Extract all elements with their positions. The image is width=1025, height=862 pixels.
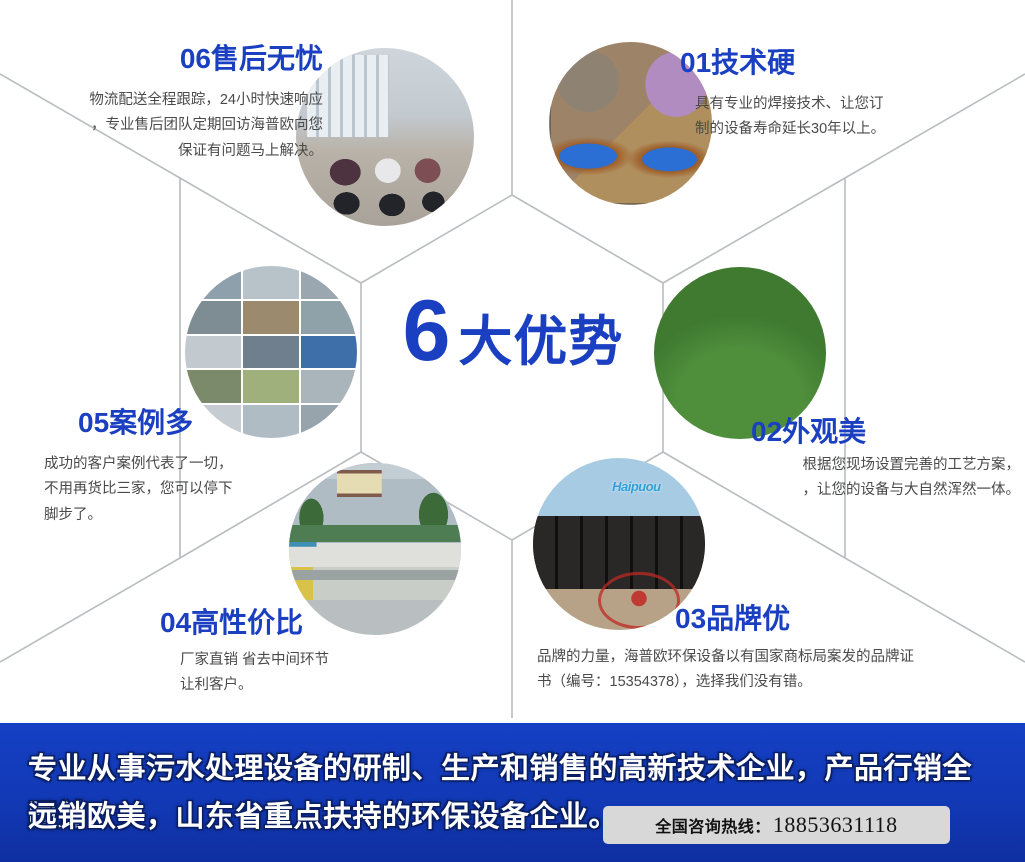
advantage-body-02: 根据您现场设置完善的工艺方案， ，让您的设备与大自然浑然一体。 [690, 453, 1020, 504]
advantage-title-06: 06售后无忧 [180, 44, 323, 73]
photo-aerial-plant [654, 267, 826, 439]
advantage-title-05: 05案例多 [78, 408, 193, 437]
advantage-title-04: 04高性价比 [160, 608, 303, 637]
center-word: 大优势 [458, 315, 623, 369]
advantage-title-03: 03品牌优 [675, 604, 790, 633]
hotline-number: 18853631118 [773, 812, 898, 838]
center-title: 6 大优势 [378, 288, 648, 398]
advantage-body-06: 物流配送全程跟踪，24小时快速响应 ，专业售后团队定期回访海普欧向您 保证有问题… [10, 88, 323, 164]
advantage-body-03: 品牌的力量，海普欧环保设备以有国家商标局案发的品牌证 书（编号：15354378… [537, 645, 1007, 696]
advantage-title-01: 01技术硬 [680, 48, 795, 77]
center-number: 6 [403, 288, 449, 374]
advantage-body-05: 成功的客户案例代表了一切， 不用再货比三家，您可以停下 脚步了。 [44, 452, 334, 528]
advantage-body-01: 具有专业的焊接技术、让您订 制的设备寿命延长30年以上。 [695, 92, 1015, 143]
haipuou-watermark: Haipuou [612, 479, 661, 494]
collage-grid [185, 266, 357, 438]
advantage-title-02: 02外观美 [751, 417, 866, 446]
photo-project-collage [185, 266, 357, 438]
hotline-box[interactable]: 全国咨询热线： 18853631118 [603, 806, 950, 844]
advantage-body-04: 厂家直销 省去中间环节 让利客户。 [180, 648, 510, 699]
advantages-infographic: 6 大优势 06售后无忧 物流配送全程跟踪，24小时快速响应 ，专业售后团队定期… [0, 0, 1025, 718]
hotline-label: 全国咨询热线： [655, 813, 771, 837]
